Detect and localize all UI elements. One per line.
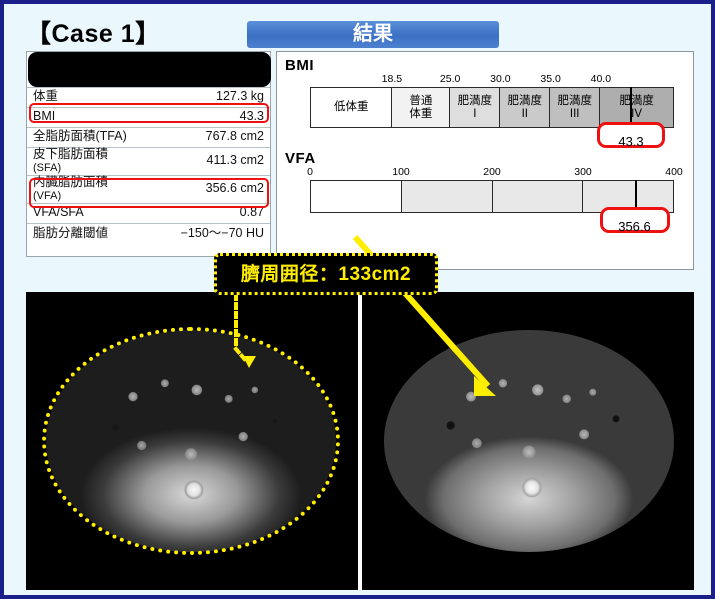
measurement-data-panel: 体重127.3 kgBMI43.3全脂肪面積(TFA)767.8 cm2皮下脂肪…: [26, 51, 271, 257]
row-value: 411.3 cm2: [155, 147, 270, 175]
scale-chart-panel: BMI 18.525.030.035.040.0 低体重普通体重肥満度I肥満度I…: [276, 51, 694, 270]
bmi-tick-label: 30.0: [490, 73, 510, 85]
vfa-tick-label: 0: [307, 166, 313, 178]
bmi-category-label: I: [473, 108, 476, 120]
redacted-patient-info-bar: [28, 52, 271, 87]
vfa-tick-label: 100: [392, 166, 410, 178]
row-value: 43.3: [155, 107, 270, 127]
row-value: 356.6 cm2: [155, 175, 270, 203]
abdomen-cross-section-gray: [46, 330, 336, 552]
table-row: 皮下脂肪面積(SFA)411.3 cm2: [27, 147, 270, 175]
bmi-category-label: 肥満度: [508, 95, 543, 107]
bmi-category-label: 肥満度: [557, 95, 592, 107]
row-value: 767.8 cm2: [155, 127, 270, 147]
bmi-category-label: 体重: [409, 108, 432, 120]
row-label: VFA/SFA: [27, 203, 155, 223]
bmi-tick-label: 25.0: [440, 73, 460, 85]
row-label: 皮下脂肪面積(SFA): [27, 147, 155, 175]
table-row: BMI43.3: [27, 107, 270, 127]
table-row: 全脂肪面積(TFA)767.8 cm2: [27, 127, 270, 147]
bmi-tick-label: 35.0: [540, 73, 560, 85]
bmi-value-callout: 43.3: [597, 122, 665, 148]
slide-canvas: 【Case 1】 結果 体重127.3 kgBMI43.3全脂肪面積(TFA)7…: [0, 0, 715, 599]
bmi-category-cell: 肥満度I: [450, 88, 500, 127]
table-row: 体重127.3 kg: [27, 87, 270, 107]
row-label: BMI: [27, 107, 155, 127]
bmi-category-label: 普通: [409, 95, 432, 107]
row-label: 全脂肪面積(TFA): [27, 127, 155, 147]
ct-pane-divider: [358, 292, 362, 590]
bmi-chart-title: BMI: [285, 57, 314, 74]
row-sublabel: (SFA): [33, 162, 61, 174]
vfa-tick-label: 400: [665, 166, 683, 178]
bmi-category-label: 肥満度: [619, 95, 654, 107]
result-banner: 結果: [247, 21, 499, 48]
row-value: 127.3 kg: [155, 87, 270, 107]
ct-image-fat-segmented: [364, 292, 694, 590]
vfa-tick-label: 300: [574, 166, 592, 178]
vfa-segment: [311, 181, 402, 212]
vfa-value-callout: 356.6: [600, 207, 670, 233]
table-row: 内臓脂肪面積(VFA)356.6 cm2: [27, 175, 270, 203]
bmi-category-label: IV: [631, 108, 642, 120]
table-row: VFA/SFA0.87: [27, 203, 270, 223]
bmi-category-cell: 肥満度II: [500, 88, 550, 127]
bmi-category-label: 低体重: [334, 101, 369, 113]
ct-image-grayscale: [26, 292, 356, 590]
vfa-chart-title: VFA: [285, 150, 316, 167]
ct-image-area: [26, 292, 694, 590]
row-value: 0.87: [155, 203, 270, 223]
vfa-tick-label: 200: [483, 166, 501, 178]
row-label: 内臓脂肪面積(VFA): [27, 175, 155, 203]
row-value: −150〜−70 HU: [155, 223, 270, 243]
bmi-axis-ticks: 18.525.030.035.040.0: [310, 73, 674, 87]
bmi-category-cell: 低体重: [311, 88, 392, 127]
row-label: 脂肪分離閾値: [27, 223, 155, 243]
vfa-segment: [493, 181, 584, 212]
vfa-axis-ticks: 0100200300400: [310, 166, 674, 180]
bmi-category-label: II: [522, 108, 528, 120]
waist-circumference-callout: 臍周囲径：133cm2: [214, 253, 438, 295]
row-sublabel: (VFA): [33, 190, 61, 202]
table-row: 脂肪分離閾値−150〜−70 HU: [27, 223, 270, 243]
vfa-segment: [402, 181, 493, 212]
bmi-category-cell: 普通体重: [392, 88, 450, 127]
bmi-tick-label: 18.5: [382, 73, 402, 85]
bmi-category-label: 肥満度: [458, 95, 493, 107]
page-title: 【Case 1】: [26, 14, 161, 50]
bmi-category-label: III: [570, 108, 580, 120]
abdomen-cross-section-segmented: [384, 330, 674, 552]
row-label: 体重: [27, 87, 155, 107]
bmi-tick-label: 40.0: [591, 73, 611, 85]
bmi-category-cell: 肥満度III: [550, 88, 600, 127]
